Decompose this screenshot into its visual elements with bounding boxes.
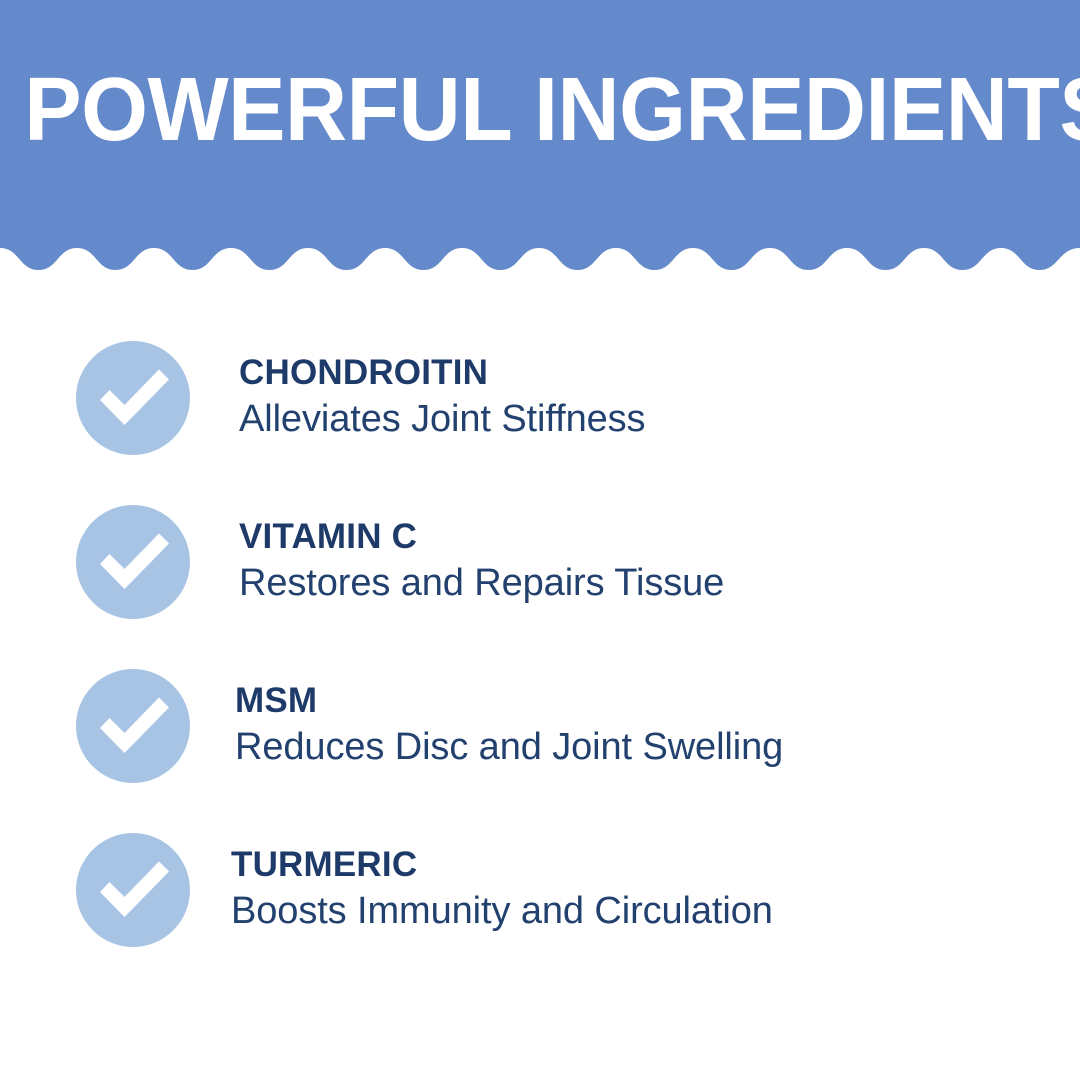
ingredient-name: CHONDROITIN <box>239 351 1080 395</box>
ingredient-text-block: MSM Reduces Disc and Joint Swelling <box>235 679 1080 773</box>
header-wave-divider <box>0 228 1080 278</box>
ingredient-benefit: Reduces Disc and Joint Swelling <box>235 723 1080 771</box>
ingredient-text-block: VITAMIN C Restores and Repairs Tissue <box>239 515 1080 609</box>
ingredient-name: MSM <box>235 679 1080 723</box>
ingredient-text-block: CHONDROITIN Alleviates Joint Stiffness <box>239 351 1080 445</box>
powerful-ingredients-poster: POWERFUL INGREDIENTS CHONDROITIN Allevia… <box>0 0 1080 1080</box>
list-item: VITAMIN C Restores and Repairs Tissue <box>0 480 1080 644</box>
list-item: MSM Reduces Disc and Joint Swelling <box>0 644 1080 808</box>
ingredient-benefit: Alleviates Joint Stiffness <box>239 395 1080 443</box>
ingredient-text-block: TURMERIC Boosts Immunity and Circulation <box>231 843 1080 937</box>
ingredient-benefit: Boosts Immunity and Circulation <box>231 887 1080 935</box>
ingredient-benefit: Restores and Repairs Tissue <box>239 559 1080 607</box>
ingredient-list: CHONDROITIN Alleviates Joint Stiffness V… <box>0 316 1080 972</box>
ingredient-name: VITAMIN C <box>239 515 1080 559</box>
check-circle-icon <box>76 341 190 455</box>
check-circle-icon <box>76 505 190 619</box>
check-circle-icon <box>76 669 190 783</box>
ingredient-name: TURMERIC <box>231 843 1080 887</box>
list-item: TURMERIC Boosts Immunity and Circulation <box>0 808 1080 972</box>
list-item: CHONDROITIN Alleviates Joint Stiffness <box>0 316 1080 480</box>
page-title: POWERFUL INGREDIENTS <box>24 62 1055 158</box>
check-circle-icon <box>76 833 190 947</box>
